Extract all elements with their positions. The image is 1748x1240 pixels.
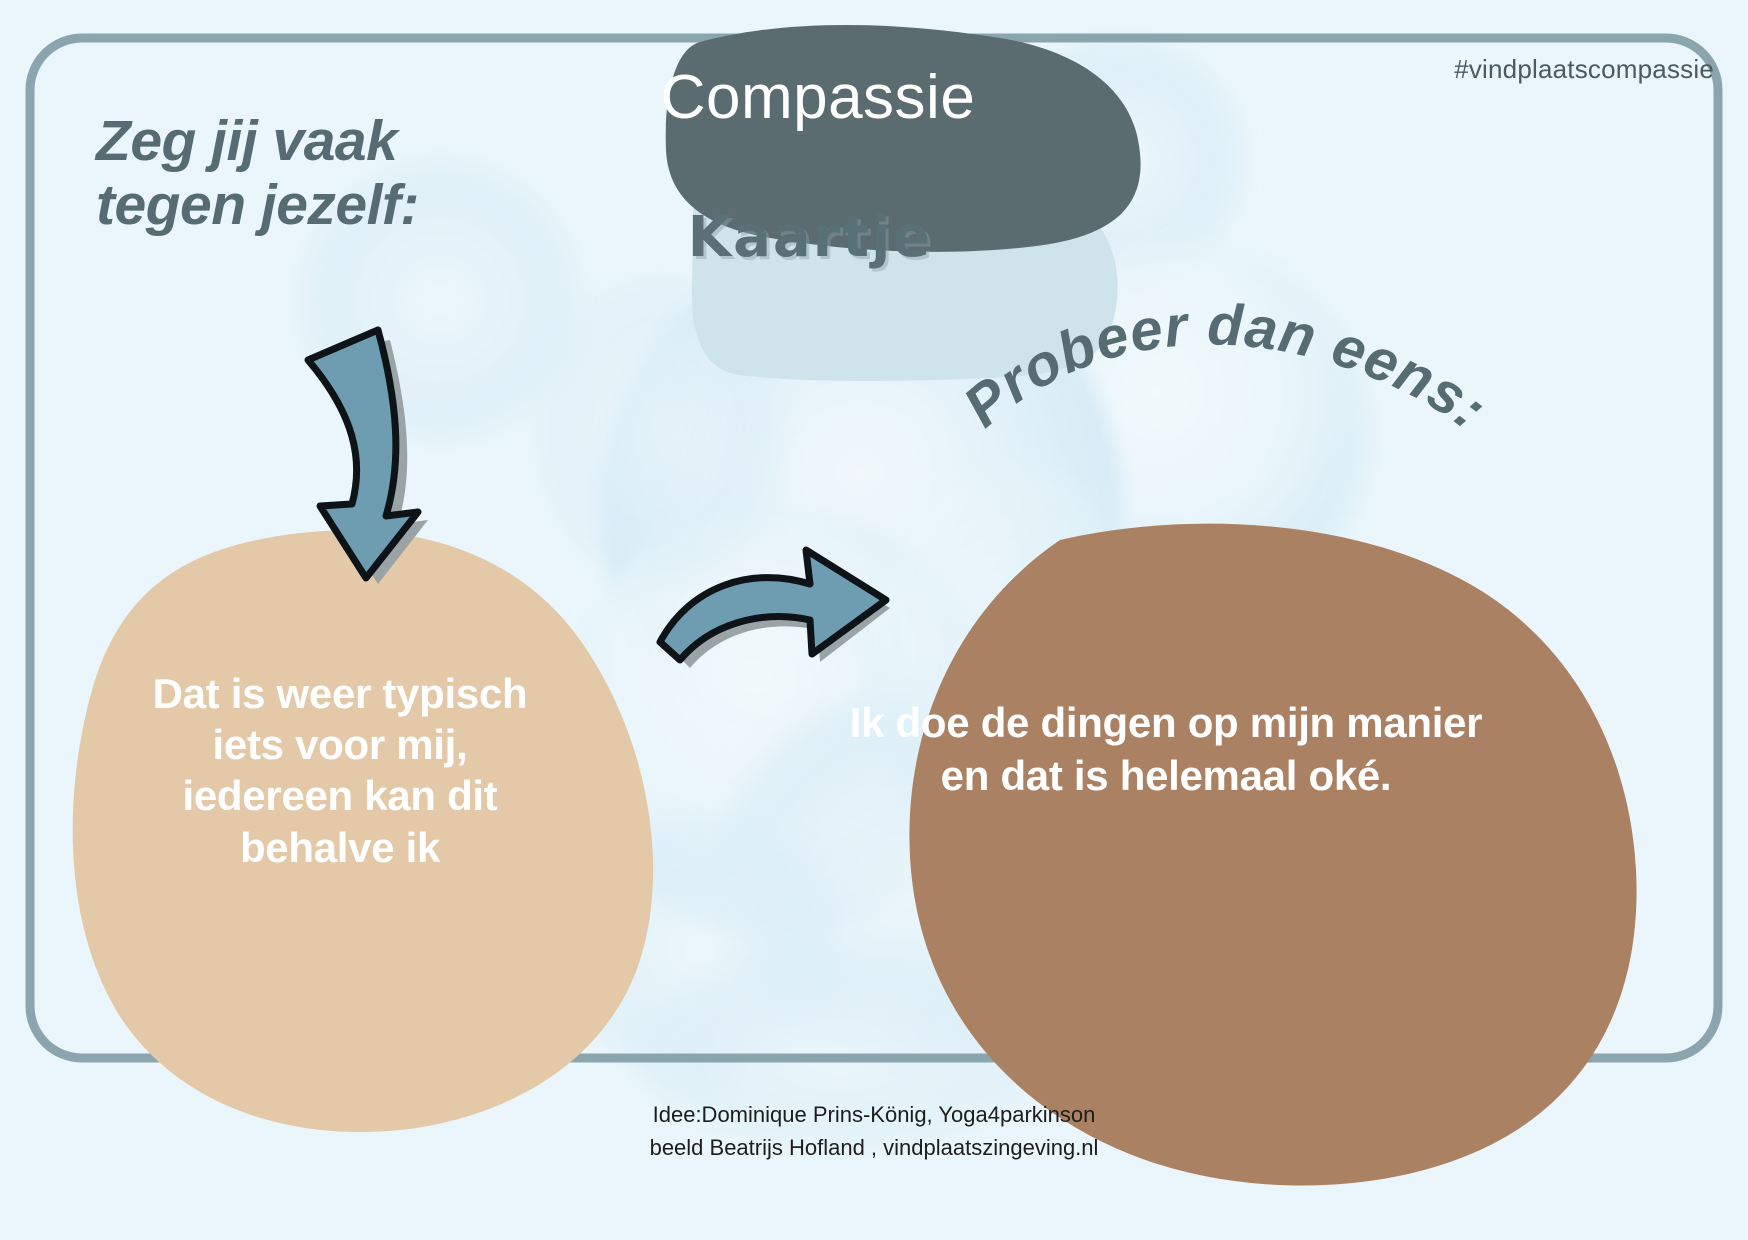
arrows-layer — [0, 0, 1748, 1240]
curved-right-arrow — [660, 550, 890, 668]
infographic-card: Compassie Kaartje #vindplaatscompassie Z… — [0, 0, 1748, 1240]
footer-line-1: Idee:Dominique Prins-König, Yoga4parkins… — [0, 1098, 1748, 1131]
curved-down-arrow — [308, 330, 428, 584]
footer-line-2: beeld Beatrijs Hofland , vindplaatszinge… — [0, 1131, 1748, 1164]
footer-credits: Idee:Dominique Prins-König, Yoga4parkins… — [0, 1098, 1748, 1164]
